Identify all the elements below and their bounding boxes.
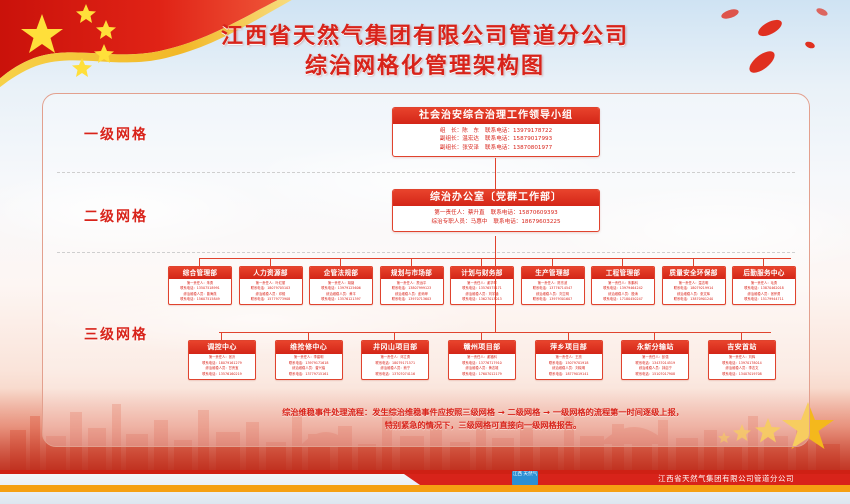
dept-card-body: 第一责任人：陈东波联系电话：13776714547综治维稳人员：刘立明联系电话：… [522,279,584,304]
dept-officer-phone: 联系电话：13970713603 [382,297,442,303]
connector-level1-to-level2 [495,158,496,189]
station-card-body: 第一责任人：李建明联系电话：13979171618综治维稳人员：曾兴煌联系电话：… [276,354,342,379]
role: 综治专职人员：马惠中 [431,218,487,227]
dept-card-3[interactable]: 企管法规部第一责任人：胡薇联系电话：13979125606综治维稳人员：黄平联系… [309,266,373,305]
title-line-2: 综治网格化管理架构图 [0,52,850,82]
phone: 联系电话：18679603225 [493,218,560,227]
dept-officer-phone: 联系电话：13979301607 [523,297,583,303]
dept-card-body: 第一责任人：朱鹏科联系电话：13979464242综治维稳人员：殷涛联系电话：1… [592,279,654,304]
station-card-5[interactable]: 萍乡项目部第一责任人：王亮联系电话：15079701918综治维稳人员：刘晓明联… [535,340,603,380]
connector-station-drop [308,332,309,340]
connector-station-drop [394,332,395,340]
node-level1-leadership-group[interactable]: 社会治安综合治理工作领导小组 组 长：陈 东 联系电话：13979178722 … [392,107,600,157]
dept-officer-phone: 联系电话：13627013013 [452,297,512,303]
dept-card-title: 质量安全环保部 [663,267,725,279]
connector-station-drop [481,332,482,340]
poster-canvas: 江西省天然气集团有限公司管道分公司 综治网格化管理架构图 一级网格 二级网格 三… [0,0,850,504]
dept-officer-phone: 联系电话：15607515849 [170,297,230,303]
dept-card-title: 企管法规部 [310,267,372,279]
phone: 联系电话：13979178722 [485,127,552,135]
role: 组 长：陈 东 [440,127,479,135]
dept-card-title: 工程管理部 [592,267,654,279]
dept-card-6[interactable]: 生产管理部第一责任人：陈东波联系电话：13776714547综治维稳人员：刘立明… [521,266,585,305]
dept-card-body: 第一责任人：毛勇联系电话：13870462018综治维稳人员：张怀勇联系电话：1… [733,279,795,304]
level-label-2: 二级网格 [61,206,171,226]
node-level1-header: 社会治安综合治理工作领导小组 [393,108,599,124]
station-card-title: 维抢修中心 [276,341,342,354]
station-card-title: 永新分输站 [622,341,688,354]
dept-card-7[interactable]: 工程管理部第一责任人：朱鹏科联系电话：13979464242综治维稳人员：殷涛联… [591,266,655,305]
station-card-body: 第一责任人：谢福科联系电话：13776717910综治维稳人员：黄志雄联系电话：… [449,354,515,379]
poster-title: 江西省天然气集团有限公司管道分公司 综治网格化管理架构图 [0,22,850,82]
department-row: 综合管理部第一责任人：朱勇联系电话：13507518991综治维稳人员：曾海燕联… [168,266,794,332]
station-card-1[interactable]: 调控中心第一责任人：张沂联系电话：18079161279综治维稳人员：甘贵宝联系… [188,340,256,380]
station-row: 调控中心第一责任人：张沂联系电话：18079161279综治维稳人员：甘贵宝联系… [188,340,774,402]
node-level2-office[interactable]: 综治办公室〔党群工作部〕 第一责任人：蔡升直 联系电话：15870609393 … [392,189,600,232]
connector-dept-drop [552,258,553,266]
dept-card-8[interactable]: 质量安全环保部第一责任人：温志明联系电话：18079219914综治维稳人员：张… [662,266,726,305]
node-level1-row: 副组长：张安泽 联系电话：13870801977 [397,144,595,152]
dept-card-1[interactable]: 综合管理部第一责任人：朱勇联系电话：13507518991综治维稳人员：曾海燕联… [168,266,232,305]
station-card-2[interactable]: 维抢修中心第一责任人：李建明联系电话：13979171618综治维稳人员：曾兴煌… [275,340,343,380]
note-line1: 发生综治维稳事件应按照三级网格 → 二级网格 → 一级网格的流程第一时间逐级上报… [372,407,684,417]
footer: 江西省天然气集团有限公司管道分公司 江西 天然气 [0,474,850,504]
dept-officer-phone: 联系电话：17180450247 [593,297,653,303]
node-level1-body: 组 长：陈 东 联系电话：13979178722 副组长：温宏达 联系电话：15… [393,124,599,156]
connector-station-drop [654,332,655,340]
connector-dept-drop [199,258,200,266]
phone: 联系电话：15879017993 [485,135,552,143]
phone: 联系电话：15870609393 [491,209,558,218]
dept-card-9[interactable]: 后勤服务中心第一责任人：毛勇联系电话：13870462018综治维稳人员：张怀勇… [732,266,796,305]
station-card-title: 井冈山项目部 [362,341,428,354]
dept-card-4[interactable]: 规划与市场部第一责任人：詹远平联系电话：13807999123综治维稳人员：彭师… [380,266,444,305]
note-lead: 综治维稳事件处理流程： [282,407,372,417]
connector-dept-drop [481,258,482,266]
dept-card-2[interactable]: 人力资源部第一责任人：叶红丽联系电话：18079705103综治维稳人员：邓毅联… [239,266,303,305]
station-card-title: 萍乡项目部 [536,341,602,354]
station-card-7[interactable]: 吉安首站第一责任人：刘辉联系电话：13970178014综治维稳人员：李志文联系… [708,340,776,380]
node-level2-row: 综治专职人员：马惠中 联系电话：18679603225 [397,218,595,227]
connector-station-drop [568,332,569,340]
station-card-body: 第一责任人：彭强联系电话：13437014519综治维稳人员：钟启宁联系电话：1… [622,354,688,379]
dept-officer-phone: 联系电话：13870901240 [664,297,724,303]
connector-center-spine [495,258,496,332]
station-officer-phone: 联系电话：13779715161 [277,372,341,378]
role: 副组长：张安泽 [440,144,479,152]
node-level2-body: 第一责任人：蔡升直 联系电话：15870609393 综治专职人员：马惠中 联系… [393,206,599,231]
connector-dept-drop [693,258,694,266]
dept-card-body: 第一责任人：谢华琴联系电话：13576575171综治维稳人员：刘宇涵联系电话：… [451,279,513,304]
connector-dept-drop [340,258,341,266]
connector-dept-drop [411,258,412,266]
dept-card-body: 第一责任人：朱勇联系电话：13507518991综治维稳人员：曾海燕联系电话：1… [169,279,231,304]
dept-card-body: 第一责任人：温志明联系电话：18079219914综治维稳人员：张文辉联系电话：… [663,279,725,304]
dept-card-title: 生产管理部 [522,267,584,279]
station-card-6[interactable]: 永新分输站第一责任人：彭强联系电话：13437014519综治维稳人员：钟启宁联… [621,340,689,380]
process-note: 综治维稳事件处理流程：发生综治维稳事件应按照三级网格 → 二级网格 → 一级网格… [163,406,803,432]
connector-dept-drop [622,258,623,266]
station-card-3[interactable]: 井冈山项目部第一责任人：邓立勇联系电话：18079171571综治维稳人员：熊宁… [361,340,429,380]
station-card-title: 调控中心 [189,341,255,354]
company-logo-badge: 江西 天然气 [512,471,538,485]
dept-card-title: 综合管理部 [169,267,231,279]
org-chart-panel: 一级网格 二级网格 三级网格 社会治安综合治理工作领导小组 组 长：陈 东 联系… [42,93,810,447]
station-officer-phone: 联系电话：18779019141 [537,372,601,378]
dept-card-title: 计划与财务部 [451,267,513,279]
station-card-body: 第一责任人：张沂联系电话：18079161279综治维稳人员：甘贵宝联系电话：1… [189,354,255,379]
dept-card-body: 第一责任人：叶红丽联系电话：18079705103综治维稳人员：邓毅联系电话：1… [240,279,302,304]
dept-card-5[interactable]: 计划与财务部第一责任人：谢华琴联系电话：13576575171综治维稳人员：刘宇… [450,266,514,305]
phone: 联系电话：13870801977 [485,144,552,152]
station-officer-phone: 联系电话：13707074116 [363,372,427,378]
dept-card-title: 规划与市场部 [381,267,443,279]
level-divider-1 [57,172,795,173]
connector-station-drop [741,332,742,340]
dept-officer-phone: 联系电话：15779773908 [241,297,301,303]
role: 第一责任人：蔡升直 [434,209,484,218]
dept-officer-phone: 联系电话：13576121397 [311,297,371,303]
station-officer-phone: 联系电话：13407019708 [710,372,774,378]
station-officer-phone: 联系电话：15107017908 [623,372,687,378]
connector-station-bus [219,332,771,333]
connector-level2-down [495,236,496,258]
node-level1-row: 副组长：温宏达 联系电话：15879017993 [397,135,595,143]
station-card-body: 第一责任人：邓立勇联系电话：18079171571综治维稳人员：熊宁联系电话：1… [362,354,428,379]
station-card-4[interactable]: 赣州项目部第一责任人：谢福科联系电话：13776717910综治维稳人员：黄志雄… [448,340,516,380]
node-level2-row: 第一责任人：蔡升直 联系电话：15870609393 [397,209,595,218]
level-label-1: 一级网格 [61,124,171,144]
footer-company-name: 江西省天然气集团有限公司管道分公司 [658,474,794,484]
role: 副组长：温宏达 [440,135,479,143]
dept-card-body: 第一责任人：胡薇联系电话：13979125606综治维稳人员：黄平联系电话：13… [310,279,372,304]
station-card-body: 第一责任人：刘辉联系电话：13970178014综治维稳人员：李志文联系电话：1… [709,354,775,379]
level-divider-2 [57,252,795,253]
note-line2: 特别紧急的情况下，三级网格可直接向一级网格报告。 [385,420,582,430]
level-label-3: 三级网格 [61,324,171,344]
station-officer-phone: 联系电话：13576160219 [190,372,254,378]
dept-card-title: 后勤服务中心 [733,267,795,279]
connector-dept-drop [763,258,764,266]
station-card-title: 吉安首站 [709,341,775,354]
station-officer-phone: 联系电话：17607012179 [450,372,514,378]
title-line-1: 江西省天然气集团有限公司管道分公司 [0,22,850,52]
connector-dept-drop [270,258,271,266]
connector-station-drop [221,332,222,340]
dept-card-title: 人力资源部 [240,267,302,279]
footer-orange-bar [0,485,850,492]
dept-officer-phone: 联系电话：15179944711 [734,297,794,303]
dept-card-body: 第一责任人：詹远平联系电话：13807999123综治维稳人员：彭师岸联系电话：… [381,279,443,304]
node-level2-header: 综治办公室〔党群工作部〕 [393,190,599,206]
station-card-title: 赣州项目部 [449,341,515,354]
node-level1-row: 组 长：陈 东 联系电话：13979178722 [397,127,595,135]
station-card-body: 第一责任人：王亮联系电话：15079701918综治维稳人员：刘晓明联系电话：1… [536,354,602,379]
